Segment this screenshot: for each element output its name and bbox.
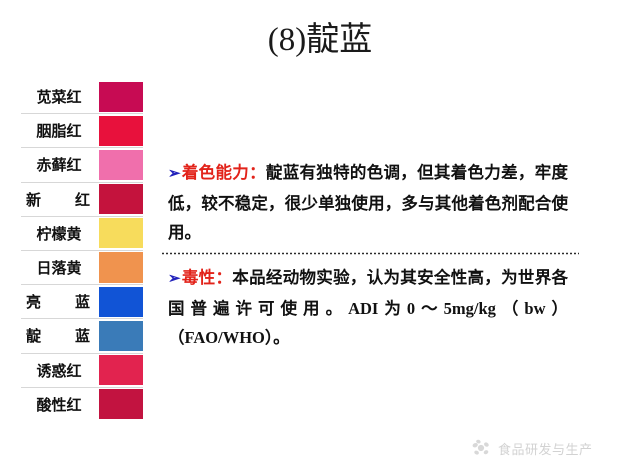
- table-row: 亮蓝: [21, 285, 143, 319]
- colorant-name: 酸性红: [21, 388, 99, 421]
- colorant-name: 柠檬黄: [21, 217, 99, 250]
- table-row: 日落黄: [21, 251, 143, 285]
- paragraph-coloring-ability: ➢着色能力：靛蓝有独特的色调，但其着色力差，牢度低，较不稳定，很少单独使用，多与…: [168, 158, 568, 247]
- bullet-arrow-icon: ➢: [168, 271, 181, 287]
- color-swatch: [99, 355, 143, 385]
- color-swatch: [99, 321, 143, 351]
- color-swatch: [99, 184, 143, 214]
- table-row: 酸性红: [21, 388, 143, 421]
- watermark: 食品研发与生产: [470, 438, 593, 458]
- colorant-swatch-table: 苋菜红胭脂红赤藓红新红柠檬黄日落黄亮蓝靛蓝诱惑红酸性红: [21, 80, 143, 421]
- paragraph-heading: 着色能力：: [182, 163, 266, 182]
- paragraph-toxicity: ➢毒性：本品经动物实验，认为其安全性高，为世界各国普遍许可使用。ADI为0～5m…: [168, 263, 568, 352]
- color-swatch: [99, 252, 143, 282]
- color-swatch: [99, 218, 143, 248]
- watermark-label: 食品研发与生产: [498, 439, 593, 458]
- bullet-arrow-icon: ➢: [168, 166, 181, 182]
- table-row: 胭脂红: [21, 114, 143, 148]
- table-row: 靛蓝: [21, 319, 143, 353]
- table-row: 苋菜红: [21, 80, 143, 114]
- color-swatch: [99, 82, 143, 112]
- color-swatch: [99, 116, 143, 146]
- colorant-name-part: 蓝: [75, 291, 90, 312]
- table-row: 柠檬黄: [21, 217, 143, 251]
- flower-logo-icon: [470, 438, 492, 458]
- colorant-name: 日落黄: [21, 251, 99, 284]
- section-divider: [161, 252, 579, 255]
- colorant-name: 新红: [21, 183, 99, 216]
- colorant-name: 靛蓝: [21, 319, 99, 352]
- colorant-name-part: 靛: [26, 325, 41, 346]
- colorant-name: 赤藓红: [21, 148, 99, 181]
- slide-canvas: (8)靛蓝 苋菜红胭脂红赤藓红新红柠檬黄日落黄亮蓝靛蓝诱惑红酸性红 ➢着色能力：…: [0, 0, 640, 474]
- page-title: (8)靛蓝: [0, 18, 640, 62]
- colorant-name: 亮蓝: [21, 285, 99, 318]
- color-swatch: [99, 287, 143, 317]
- colorant-name-part: 红: [75, 189, 90, 210]
- colorant-name: 诱惑红: [21, 354, 99, 387]
- colorant-name-part: 亮: [26, 291, 41, 312]
- colorant-name-part: 蓝: [75, 325, 90, 346]
- table-row: 新红: [21, 183, 143, 217]
- paragraph-heading: 毒性：: [182, 268, 233, 287]
- colorant-name: 苋菜红: [21, 80, 99, 113]
- table-row: 赤藓红: [21, 148, 143, 182]
- colorant-name: 胭脂红: [21, 114, 99, 147]
- color-swatch: [99, 389, 143, 419]
- colorant-name-part: 新: [26, 189, 41, 210]
- color-swatch: [99, 150, 143, 180]
- table-row: 诱惑红: [21, 354, 143, 388]
